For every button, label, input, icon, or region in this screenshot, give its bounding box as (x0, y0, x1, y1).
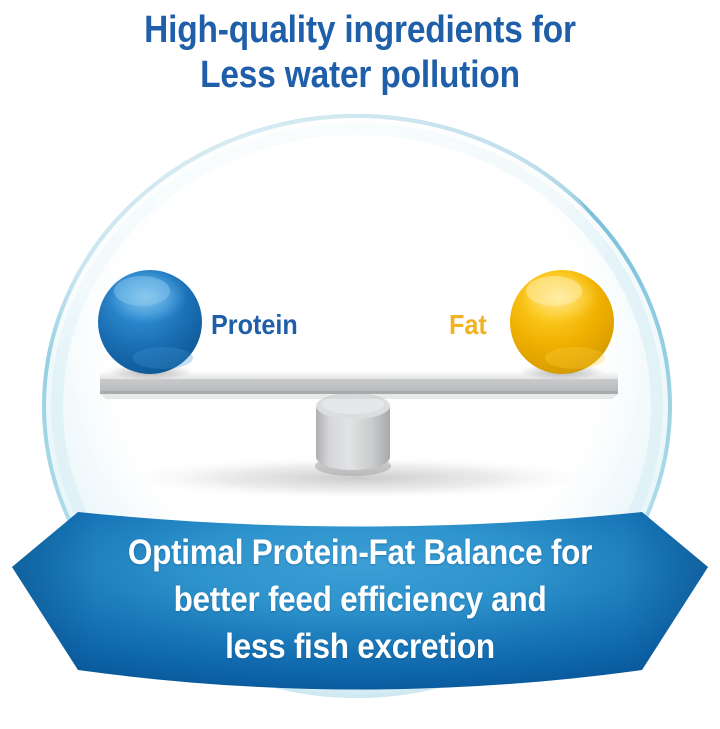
optimal-balance-banner (0, 495, 720, 710)
headline-line-1: High-quality ingredients for (43, 8, 677, 53)
protein-label: Protein (211, 310, 298, 340)
page-title: High-quality ingredients for Less water … (0, 8, 720, 98)
fat-label: Fat (449, 310, 487, 340)
headline-line-2: Less water pollution (43, 53, 677, 98)
